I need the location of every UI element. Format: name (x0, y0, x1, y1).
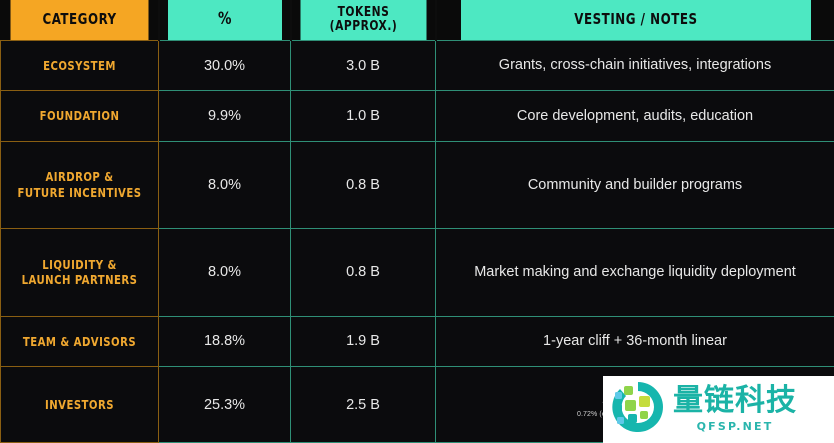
column-header-category-label: CATEGORY (14, 12, 145, 27)
table-row: AIRDROP & FUTURE INCENTIVES 8.0% 0.8 B C… (1, 141, 834, 229)
cell-percent: 25.3% (159, 367, 291, 443)
column-header-tokens-label-line2: (APPROX.) (304, 20, 423, 34)
table-row: LIQUIDITY & LAUNCH PARTNERS 8.0% 0.8 B M… (1, 229, 834, 317)
table-body: ECOSYSTEM 30.0% 3.0 B Grants, cross-chai… (1, 41, 834, 443)
column-header-category: CATEGORY (10, 0, 149, 41)
cell-tokens: 2.5 B (291, 367, 436, 443)
notes-text: Community and builder programs (437, 177, 833, 194)
tokenomics-table: CATEGORY % TOKENS (APPROX.) VESTING / NO… (0, 0, 834, 443)
notes-text: Grants, cross-chain initiatives, integra… (437, 57, 833, 74)
cell-percent: 8.0% (159, 141, 291, 229)
column-header-notes-label: VESTING / NOTES (464, 12, 807, 27)
column-header-percent: % (166, 0, 282, 41)
cell-percent: 18.8% (159, 316, 291, 366)
cell-category: ECOSYSTEM (1, 41, 159, 91)
notes-text: 1-year cliff (437, 391, 833, 408)
cell-notes: Market making and exchange liquidity dep… (436, 229, 834, 317)
table-row: ECOSYSTEM 30.0% 3.0 B Grants, cross-chai… (1, 41, 834, 91)
category-label: TEAM & ADVISORS (10, 334, 150, 350)
cell-notes: Grants, cross-chain initiatives, integra… (436, 41, 834, 91)
category-label: INVESTORS (10, 397, 150, 413)
table-header: CATEGORY % TOKENS (APPROX.) VESTING / NO… (1, 0, 834, 41)
cell-percent: 30.0% (159, 41, 291, 91)
cell-notes: Core development, audits, education (436, 91, 834, 141)
notes-footnote: 0.72% (echo round participants) hav (437, 411, 833, 418)
cell-tokens: 3.0 B (291, 41, 436, 91)
category-label: ECOSYSTEM (10, 58, 150, 74)
table-row: TEAM & ADVISORS 18.8% 1.9 B 1-year cliff… (1, 316, 834, 366)
cell-tokens: 0.8 B (291, 141, 436, 229)
notes-text: 1-year cliff + 36-month linear (437, 333, 833, 350)
category-label: LIQUIDITY & LAUNCH PARTNERS (10, 257, 150, 288)
table-row: INVESTORS 25.3% 2.5 B 1-year cliff 0.72%… (1, 367, 834, 443)
cell-category: LIQUIDITY & LAUNCH PARTNERS (1, 229, 159, 317)
table-row: FOUNDATION 9.9% 1.0 B Core development, … (1, 91, 834, 141)
cell-tokens: 1.9 B (291, 316, 436, 366)
cell-percent: 8.0% (159, 229, 291, 317)
cell-category: INVESTORS (1, 367, 159, 443)
header-row: CATEGORY % TOKENS (APPROX.) VESTING / NO… (1, 0, 834, 41)
column-header-percent-label: % (171, 11, 278, 28)
column-header-tokens: TOKENS (APPROX.) (299, 0, 427, 41)
column-header-notes: VESTING / NOTES (459, 0, 810, 41)
cell-percent: 9.9% (159, 91, 291, 141)
notes-text: Core development, audits, education (437, 108, 833, 125)
cell-notes: Community and builder programs (436, 141, 834, 229)
cell-tokens: 1.0 B (291, 91, 436, 141)
cell-tokens: 0.8 B (291, 229, 436, 317)
notes-text: Market making and exchange liquidity dep… (437, 264, 833, 281)
cell-notes: 1-year cliff 0.72% (echo round participa… (436, 367, 834, 443)
cell-category: FOUNDATION (1, 91, 159, 141)
cell-category: TEAM & ADVISORS (1, 316, 159, 366)
cell-notes: 1-year cliff + 36-month linear (436, 316, 834, 366)
category-label: AIRDROP & FUTURE INCENTIVES (10, 169, 150, 200)
cell-category: AIRDROP & FUTURE INCENTIVES (1, 141, 159, 229)
category-label: FOUNDATION (10, 108, 150, 124)
